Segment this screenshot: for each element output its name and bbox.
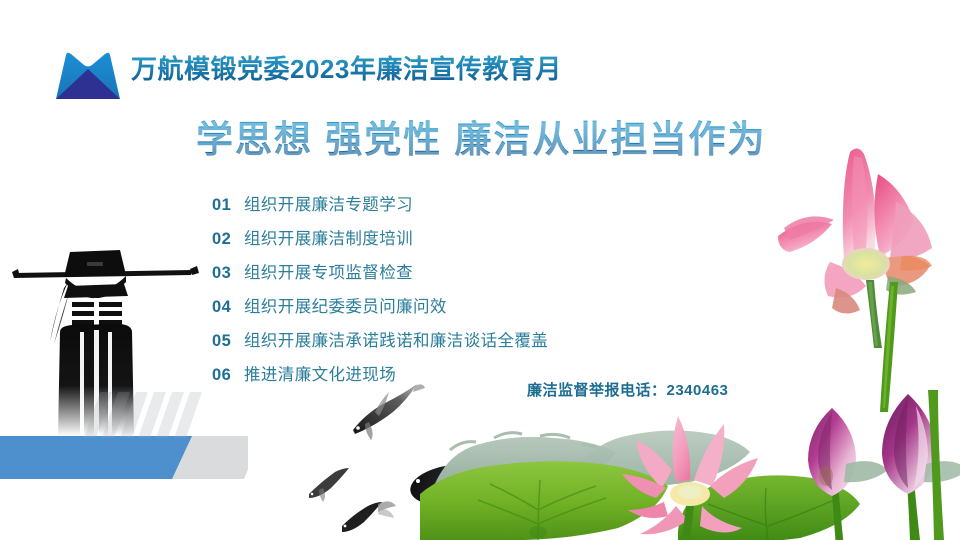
wanhang-mountain-logo: [52, 41, 124, 103]
agenda-label: 组织开展廉洁承诺践诺和廉洁谈话全覆盖: [244, 324, 548, 358]
agenda-label: 组织开展廉洁制度培训: [244, 222, 413, 256]
agenda-label: 组织开展纪委委员问廉问效: [244, 290, 447, 324]
agenda-number: 02: [212, 222, 244, 256]
agenda-number: 01: [212, 188, 244, 222]
diagonal-stripe-bar: [0, 436, 248, 479]
ink-fish-small-mid: [338, 500, 396, 540]
agenda-label: 组织开展廉洁专题学习: [244, 188, 413, 222]
agenda-number: 04: [212, 290, 244, 324]
agenda-item-04[interactable]: 04 组织开展纪委委员问廉问效: [212, 290, 548, 324]
page-title: 学思想 强党性 廉洁从业担当作为: [196, 115, 767, 165]
agenda-item-02[interactable]: 02 组织开展廉洁制度培训: [212, 222, 548, 256]
agenda-number: 06: [212, 358, 244, 392]
agenda-number: 05: [212, 324, 244, 358]
agenda-item-01[interactable]: 01 组织开展廉洁专题学习: [212, 188, 548, 222]
ink-fish-top: [345, 382, 425, 440]
header-title: 万航模锻党委2023年廉洁宣传教育月: [131, 52, 562, 86]
agenda-item-05[interactable]: 05 组织开展廉洁承诺践诺和廉洁谈话全覆盖: [212, 324, 548, 358]
pink-lotus-flower: [770, 140, 960, 350]
agenda-list: 01 组织开展廉洁专题学习 02 组织开展廉洁制度培训 03 组织开展专项监督检…: [212, 188, 548, 392]
ink-official-figure: [2, 248, 202, 438]
agenda-item-03[interactable]: 03 组织开展专项监督检查: [212, 256, 548, 290]
agenda-label: 组织开展专项监督检查: [244, 256, 413, 290]
presentation-slide: 万航模锻党委2023年廉洁宣传教育月 学思想 强党性 廉洁从业担当作为 01 组…: [0, 0, 960, 540]
ink-fish-small-left: [305, 466, 351, 502]
lotus-bottom-scene: [420, 390, 960, 540]
agenda-number: 03: [212, 256, 244, 290]
